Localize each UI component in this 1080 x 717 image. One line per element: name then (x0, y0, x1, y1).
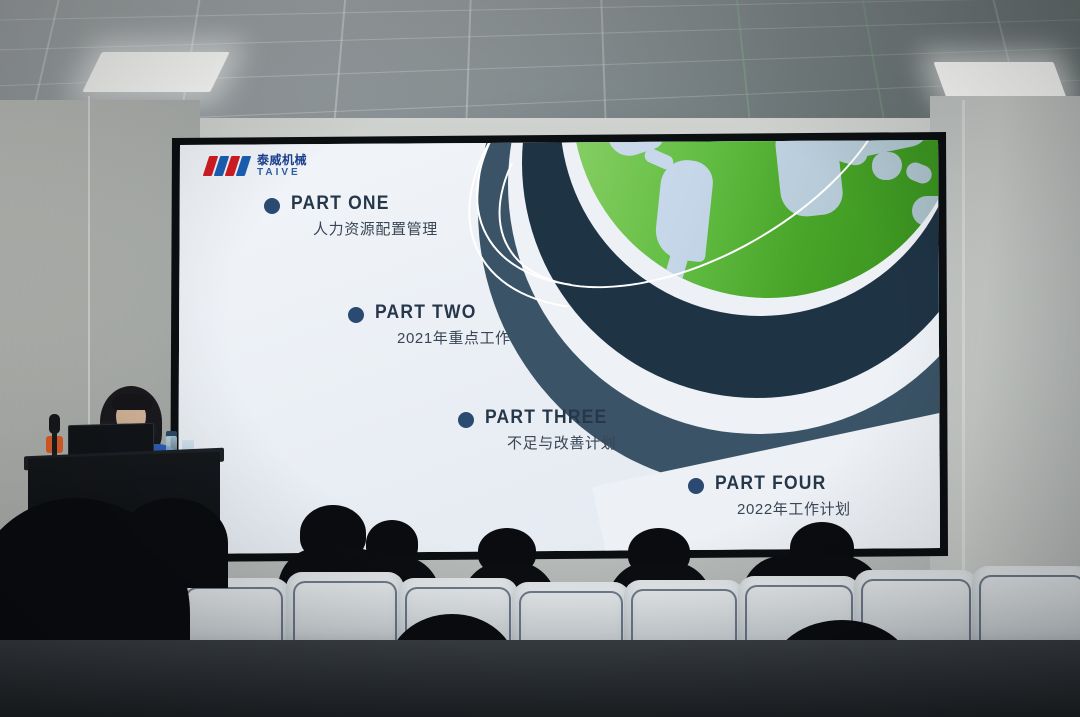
agenda-label-en: PART FOUR (715, 474, 840, 494)
agenda-item-part-two: PART TWO 2021年重点工作 (348, 303, 511, 348)
company-logo: 泰威机械 TAIVE (206, 154, 307, 178)
projection-screen: 泰威机械 TAIVE PART ONE 人力资源配置管理 PART TWO 20… (178, 140, 940, 554)
taive-tw-logo-mark-icon (206, 156, 250, 176)
presentation-slide: 泰威机械 TAIVE PART ONE 人力资源配置管理 PART TWO 20… (178, 140, 940, 554)
logo-company-name-cn: 泰威机械 (257, 154, 307, 166)
agenda-label-cn: 2021年重点工作 (397, 327, 511, 348)
agenda-item-part-three: PART THREE 不足与改善计划 (458, 408, 618, 453)
agenda-label-cn: 2022年工作计划 (737, 498, 851, 519)
ceiling-light-right (933, 62, 1066, 98)
bullet-icon (688, 478, 704, 494)
bullet-icon (348, 307, 364, 323)
agenda-label-cn: 人力资源配置管理 (313, 218, 438, 239)
agenda-label-en: PART TWO (375, 303, 500, 323)
audience-seat (286, 572, 404, 648)
right-wall-corner (962, 100, 965, 620)
agenda-item-part-one: PART ONE 人力资源配置管理 (264, 194, 438, 239)
agenda-label-en: PART ONE (291, 194, 426, 214)
ceiling-light-left (82, 52, 230, 92)
agenda-label-cn: 不足与改善计划 (507, 432, 618, 453)
bullet-icon (458, 412, 474, 428)
floor (0, 640, 1080, 717)
right-wall (930, 96, 1080, 636)
bullet-icon (264, 198, 280, 214)
logo-company-name-en: TAIVE (257, 168, 307, 178)
presenter-fringe (112, 394, 152, 410)
audience-seat (972, 566, 1080, 648)
photo-scene: 泰威机械 TAIVE PART ONE 人力资源配置管理 PART TWO 20… (0, 0, 1080, 717)
audience-head-foreground (118, 498, 228, 588)
agenda-label-en: PART THREE (485, 408, 607, 428)
agenda-item-part-four: PART FOUR 2022年工作计划 (688, 474, 851, 519)
